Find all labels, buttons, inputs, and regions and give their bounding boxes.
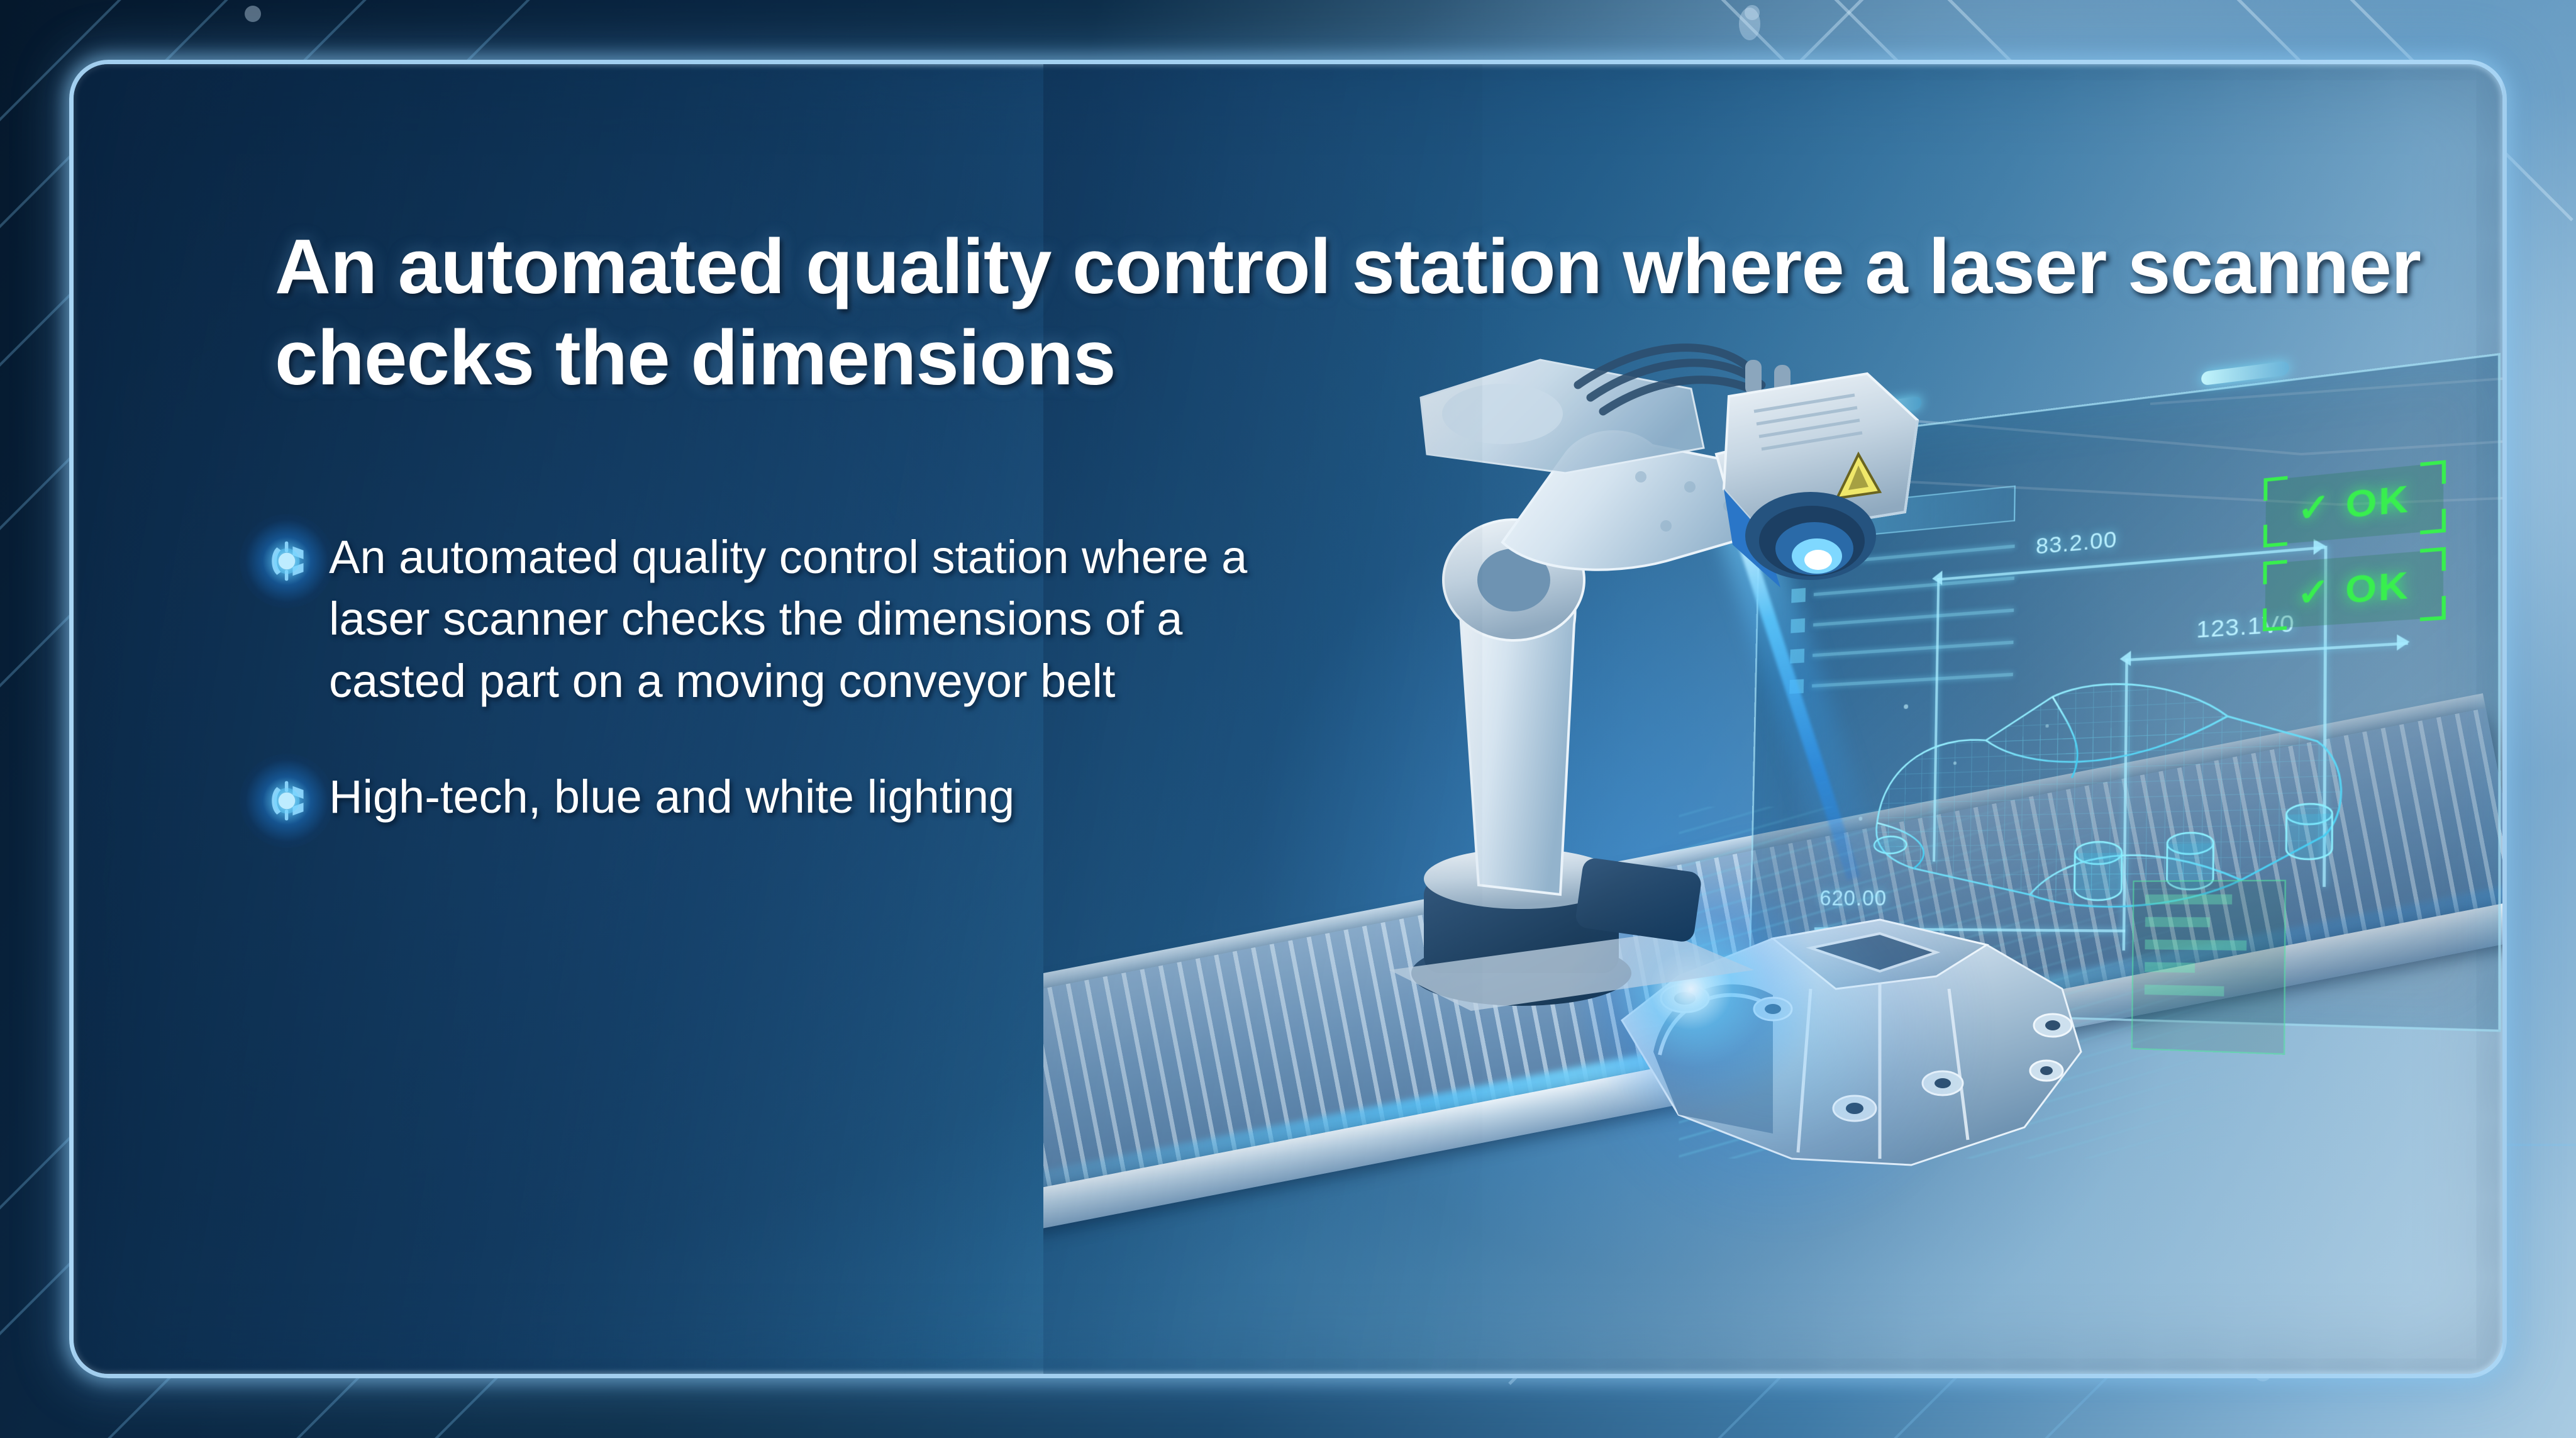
list-item-label: High-tech, blue and white lighting	[329, 766, 1014, 828]
list-item-label: An automated quality control station whe…	[329, 527, 1281, 712]
dimension-arrow-right2	[2397, 633, 2409, 650]
status-badge-label: OK	[2345, 564, 2409, 612]
status-badge-ok-2: ✓ OK	[2265, 549, 2444, 629]
list-item: High-tech, blue and white lighting	[262, 766, 1281, 828]
bullet-list: An automated quality control station whe…	[262, 527, 1281, 883]
status-badge-label: OK	[2346, 477, 2410, 527]
hex-node-icon	[262, 537, 311, 586]
check-icon: ✓	[2297, 485, 2332, 531]
list-item: An automated quality control station whe…	[262, 527, 1281, 712]
check-icon: ✓	[2297, 570, 2331, 616]
content-card: 83.2.00 123.1V0 620.00	[69, 60, 2507, 1378]
hex-node-icon	[262, 776, 311, 825]
page-title: An automated quality control station whe…	[275, 221, 2489, 404]
